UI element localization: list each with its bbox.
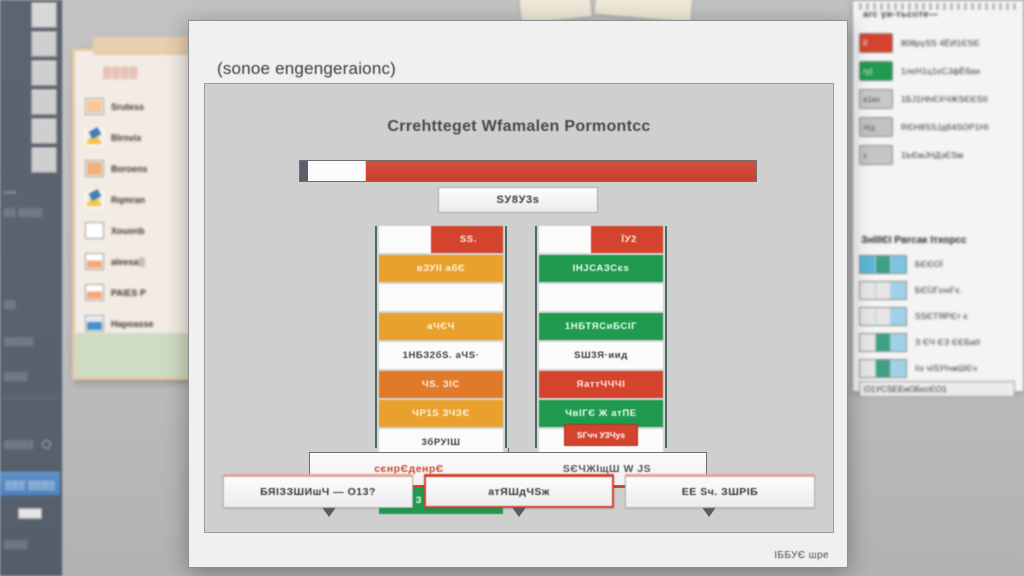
color-scale-swatch [859, 281, 907, 300]
legend-swatch: з [859, 145, 893, 165]
list-item[interactable]: aleesa▒ [85, 246, 197, 277]
panel-heading: Crrehtteget Wfamalen Pormontcc [205, 118, 833, 136]
rail-thumbnail[interactable] [31, 118, 57, 144]
rail-bottom-note: ▒▒▒▒ [4, 540, 28, 549]
rail-thumbnail[interactable] [31, 2, 57, 28]
right-panel-legend[interactable]: Їѓ 808рγЅЅ 4ЁИ1ЄЅЄ гу) 1лєН1ц1єСЈфЁбан а… [859, 29, 1019, 169]
list-item-label: Srutess [111, 102, 144, 112]
action-button-1[interactable]: БЯІЗЗШИшЧ — O13? [223, 474, 413, 508]
list-item-label: Hapoasse [111, 319, 154, 329]
rail-item-label[interactable]: ▒▒▒▒▒ [4, 337, 34, 346]
rule-cell[interactable] [539, 284, 663, 311]
legend-row[interactable]: Їѓ 808рγЅЅ 4ЁИ1ЄЅЄ [859, 29, 1019, 57]
rule-cell[interactable]: ЧЅ. ЗІС [379, 371, 503, 398]
rail-selected-item[interactable]: ▒▒▒ ▒▒▒▒ [0, 472, 60, 496]
rail-item-label[interactable]: ▒▒ ▒▒▒▒ [4, 208, 42, 217]
list-item-label: Rqmran [111, 195, 145, 205]
rule-cell[interactable]: ЧвІГЄ Ж атПЕ [539, 400, 663, 427]
rail-thumbnail[interactable] [31, 147, 57, 173]
dialog-body: Crrehtteget Wfamalen Pormontcc ЅУ8У3ѕ ЅЅ… [204, 83, 834, 533]
pencil-tool-icon [85, 129, 104, 146]
document-card-title: ▒▒▒▒ [103, 67, 138, 79]
rule-cell[interactable]: ЅЅ. [379, 226, 503, 253]
rule-cell[interactable]: ЧР1Ѕ ЗЧЗЄ [379, 400, 503, 427]
dialog-footer-status: ІББУЄ шре [774, 550, 829, 561]
swatch-row-label: З ЄЧ ЄЗ ЄЄБаІІ [915, 337, 980, 347]
document-card-tab [93, 37, 189, 55]
swatch-row-label: БЄЄОЇ [915, 259, 943, 269]
half-orange-icon [85, 284, 104, 301]
swatch-row-label: Ііз чІЅУІчжШЄч [915, 363, 977, 373]
data-bar[interactable] [299, 160, 757, 182]
data-bar-cap [300, 161, 308, 181]
data-bar-fill [366, 161, 756, 181]
rule-cell[interactable]: ЇУ2 [539, 226, 663, 253]
rule-cell[interactable]: ЯаттЧЧЧІ [539, 371, 663, 398]
right-side-panel[interactable]: arc γи-тьсııте— Їѓ 808рγЅЅ 4ЁИ1ЄЅЄ гу) 1… [852, 0, 1024, 392]
rule-cell[interactable] [379, 284, 503, 311]
legend-swatch: лгд [859, 117, 893, 137]
dialog-action-buttons: БЯІЗЗШИшЧ — O13? атЯШдЧЅж ЕЕ Ѕч. ЗШРІБ [223, 474, 815, 508]
rail-thumbnail[interactable] [31, 31, 57, 57]
list-item[interactable]: Xouonb [85, 215, 197, 246]
rule-columns: ЅЅ. вЗУІІ абЄ аЧЄЧ 1НБЗ2бЅ. аЧЅ· ЧЅ. ЗІС… [375, 226, 667, 448]
rail-divider [2, 398, 58, 399]
legend-label: 808рγЅЅ 4ЁИ1ЄЅЄ [901, 38, 980, 48]
list-item[interactable]: Srutess [85, 91, 197, 122]
color-scale-swatch [859, 307, 907, 326]
swatch-row-label: SЅЄТЯРЄт є [915, 311, 968, 321]
legend-swatch: Їѓ [859, 33, 893, 53]
list-item[interactable]: Rqmran [85, 184, 197, 215]
list-item[interactable]: Blrnvix [85, 122, 197, 153]
list-item-label: Xouonb [111, 226, 145, 236]
rail-thumbnail-strip[interactable] [31, 2, 59, 176]
right-panel-footer-field[interactable]: O1УСЅЕЕиОБєсЄO1 [859, 381, 1015, 397]
rule-cell[interactable]: аЧЄЧ [379, 313, 503, 340]
swatch-row[interactable]: Ііз чІЅУІчжШЄч [859, 355, 1019, 381]
right-rule-column[interactable]: ЇУ2 ІНЈСАЗСєѕ 1НБТЯСиБСІГ ЅШ3Я·иид ЯаттЧ… [535, 226, 667, 448]
swatch-row[interactable]: БЄЄОЇ [859, 251, 1019, 277]
legend-row[interactable]: лгд RЄН8ЅЅЈдб4ЅОР1НІ [859, 113, 1019, 141]
right-panel-heading: arc γи-тьсııте— [863, 9, 1017, 19]
right-panel-section2-heading: ЗнІІІЄІ Рвгсак Ітхорсс [861, 235, 967, 246]
color-scale-swatch [859, 333, 907, 352]
document-card-footer-strip [75, 333, 193, 377]
color-scale-swatch [859, 359, 907, 378]
rule-cell[interactable]: вЗУІІ абЄ [379, 255, 503, 282]
swatch-row[interactable]: БЄЇЈГєніГє. [859, 277, 1019, 303]
rail-item-label[interactable]: •••• [4, 188, 16, 197]
list-item-label: PAIES P [111, 288, 146, 298]
legend-label: 1лєН1ц1єСЈфЁбан [901, 66, 980, 76]
rule-cell[interactable]: 1НБЗ2бЅ. аЧЅ· [379, 342, 503, 369]
action-button-3[interactable]: ЕЕ Ѕч. ЗШРІБ [625, 474, 815, 508]
legend-row[interactable]: а1кн 1БЈ1НһЄХЧЖЅЄЄЅІІ [859, 85, 1019, 113]
legend-swatch: а1кн [859, 89, 893, 109]
gear-icon[interactable] [42, 440, 51, 449]
rail-item-label[interactable]: ▒▒▒▒▒ [4, 440, 34, 449]
list-item-label: aleesa▒ [111, 257, 145, 267]
dialog-title: (sonoe engengeraionc) [217, 59, 396, 79]
legend-label: 1БЈ1НһЄХЧЖЅЄЄЅІІ [901, 94, 988, 104]
grid-icon [85, 222, 104, 239]
status-badge: ЅГчч У3Чуѕ [564, 424, 638, 446]
rule-cell[interactable]: ІНЈСАЗСєѕ [539, 255, 663, 282]
swatch-row[interactable]: SЅЄТЯРЄт є [859, 303, 1019, 329]
left-navigation-rail[interactable]: •••• ▒▒ ▒▒▒▒ ▒▒ ▒▒▒▒▒ ▒▒▒▒ ▒▒▒▒▒ ▒▒▒ ▒▒▒… [0, 0, 62, 576]
list-item-label: Boroens [111, 164, 148, 174]
rail-item-label[interactable]: ▒▒ [4, 300, 16, 309]
legend-row[interactable]: гу) 1лєН1ц1єСЈфЁбан [859, 57, 1019, 85]
list-item[interactable]: PAIES P [85, 277, 197, 308]
pencil-tool-icon [85, 191, 104, 208]
color-scale-swatch [859, 255, 907, 274]
legend-label: RЄН8ЅЅЈдб4ЅОР1НІ [901, 122, 989, 132]
data-bar-empty-segment [308, 161, 366, 181]
swatch-row-label: БЄЇЈГєніГє. [915, 285, 962, 295]
data-bar-label: ЅУ8У3ѕ [438, 187, 598, 213]
rail-item-label[interactable]: ▒▒▒▒ [4, 372, 28, 381]
action-button-2[interactable]: атЯШдЧЅж [424, 474, 614, 508]
legend-swatch: гу) [859, 61, 893, 81]
modal-dialog[interactable]: (sonoe engengeraionc) Crrehtteget Wfamal… [188, 20, 848, 568]
swatch-row[interactable]: З ЄЧ ЄЗ ЄЄБаІІ [859, 329, 1019, 355]
rail-thumbnail[interactable] [31, 89, 57, 115]
rail-thumbnail[interactable] [31, 60, 57, 86]
document-card[interactable]: ▒▒▒▒ Srutess Blrnvix Boroens Rqmran Xouo… [72, 48, 196, 380]
document-card-list[interactable]: Srutess Blrnvix Boroens Rqmran Xouonb al… [85, 91, 197, 370]
blue-tile-icon [85, 315, 104, 332]
legend-label: 1ЬЄмЈНДзЄЅм [901, 150, 963, 160]
orange-square-icon [85, 98, 104, 115]
rule-cell[interactable]: ЅШ3Я·иид [539, 342, 663, 369]
legend-row[interactable]: з 1ЬЄмЈНДзЄЅм [859, 141, 1019, 169]
rail-chip [18, 508, 42, 519]
rule-cell[interactable]: 1НБТЯСиБСІГ [539, 313, 663, 340]
right-panel-section2-list[interactable]: БЄЄОЇ БЄЇЈГєніГє. SЅЄТЯРЄт є З ЄЧ ЄЗ ЄЄБ… [859, 251, 1019, 381]
rail-selected-label: ▒▒▒ ▒▒▒▒ [0, 473, 60, 497]
list-item-label: Blrnvix [111, 133, 142, 143]
left-rule-column[interactable]: ЅЅ. вЗУІІ абЄ аЧЄЧ 1НБЗ2бЅ. аЧЅ· ЧЅ. ЗІС… [375, 226, 507, 448]
list-item[interactable]: Boroens [85, 153, 197, 184]
orange-square-icon [85, 160, 104, 177]
half-orange-icon [85, 253, 104, 270]
